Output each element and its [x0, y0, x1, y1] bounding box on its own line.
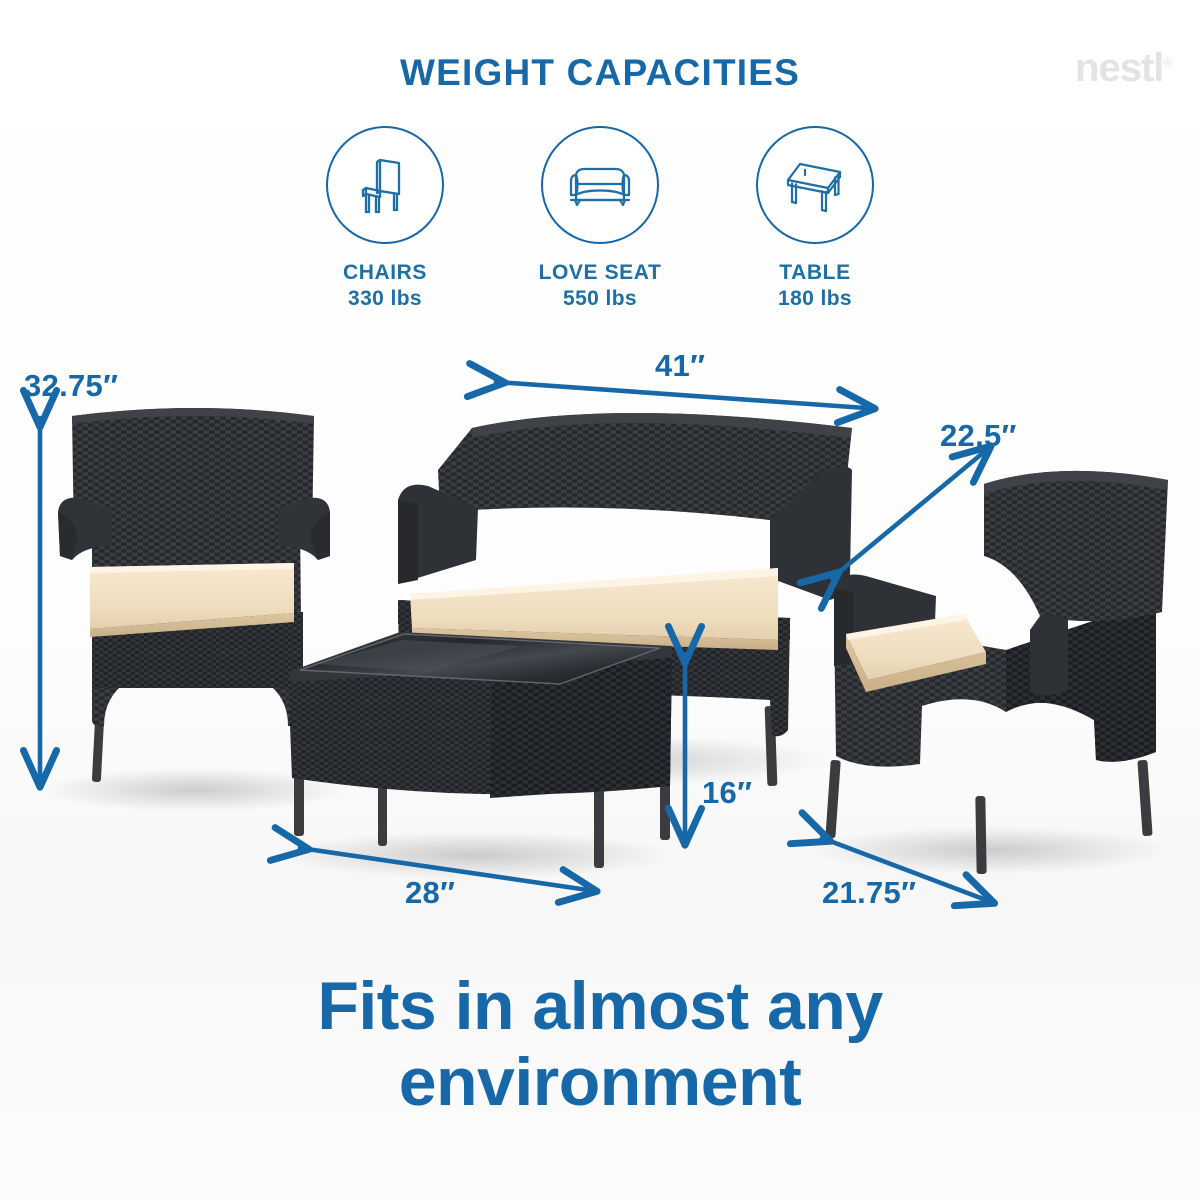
dimension-label-chair-height: 32.75″ — [24, 368, 118, 404]
dimension-label-chair-depth: 22.5″ — [940, 418, 1017, 454]
dimension-label-table-height: 16″ — [702, 775, 752, 811]
dimension-label-loveseat-width: 41″ — [655, 348, 705, 384]
dimension-label-chair-width: 21.75″ — [822, 875, 916, 911]
footer-headline: Fits in almost any environment — [0, 968, 1200, 1120]
footer-headline-line-1: Fits in almost any — [0, 968, 1200, 1044]
left-chair — [58, 408, 330, 782]
infographic-canvas: nestl® WEIGHT CAPACITIES — [0, 0, 1200, 1200]
right-chair — [825, 471, 1168, 874]
footer-headline-line-2: environment — [0, 1044, 1200, 1120]
shadow-right-chair — [810, 826, 1170, 874]
shadow-coffee-table — [275, 831, 675, 879]
dimension-label-table-width: 28″ — [405, 875, 455, 911]
